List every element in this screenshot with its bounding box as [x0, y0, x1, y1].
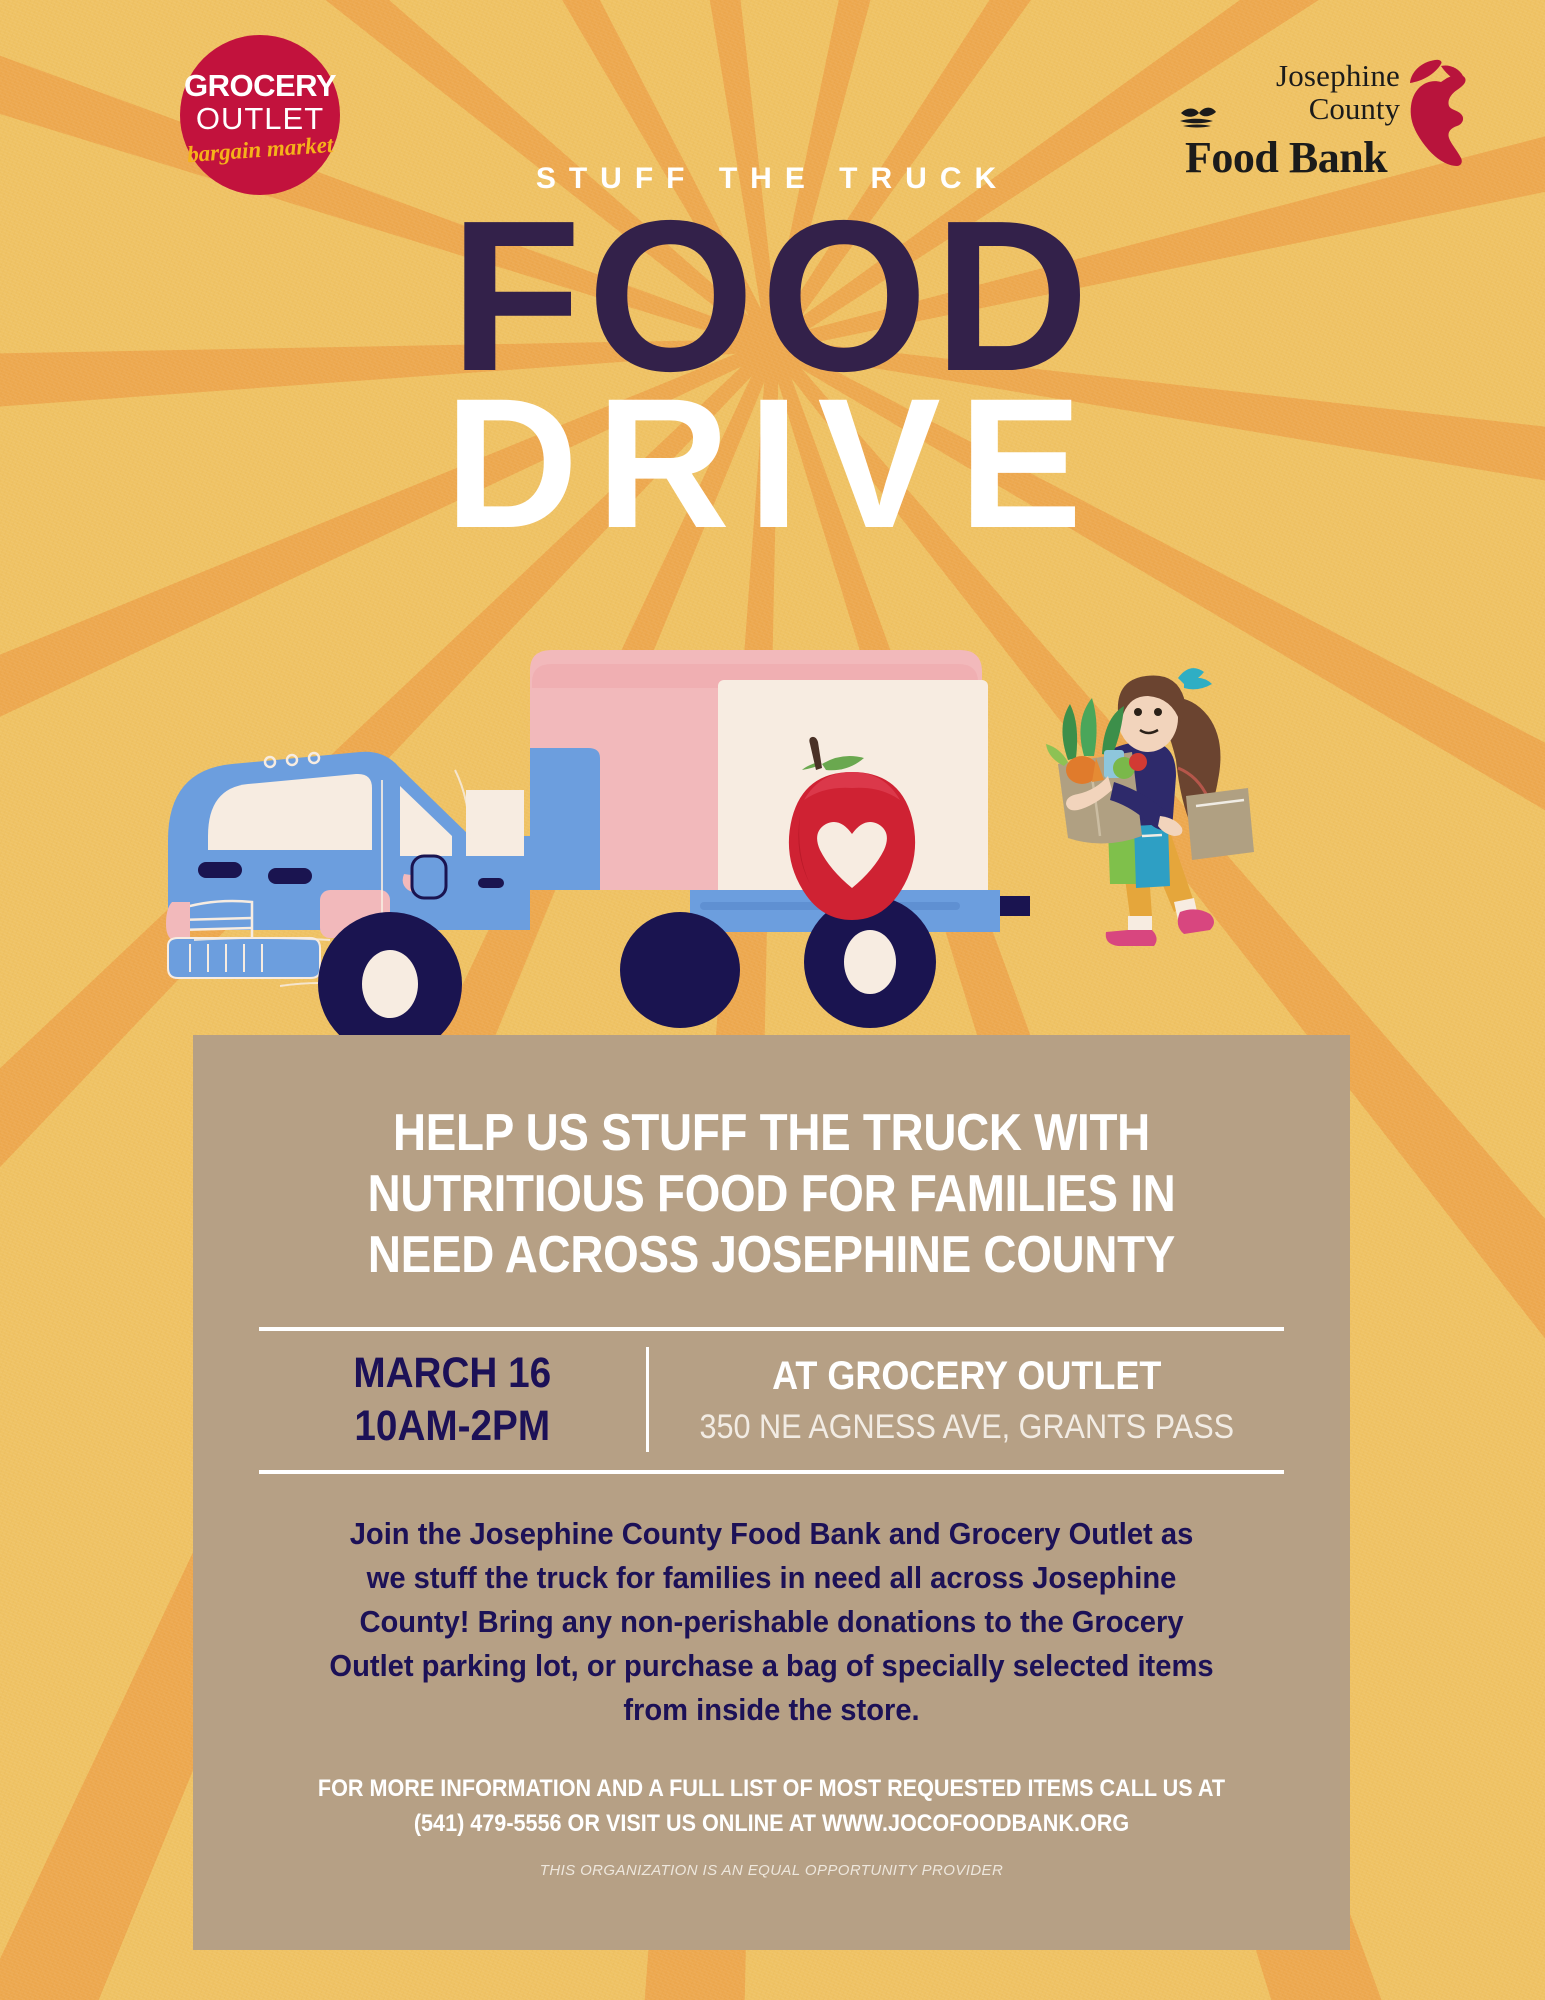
equal-opportunity-note: THIS ORGANIZATION IS AN EQUAL OPPORTUNIT… [263, 1862, 1280, 1879]
wheat-leaf-icon [1177, 104, 1219, 130]
truck-and-shopper-illustration [0, 640, 1545, 1060]
illustration-area [0, 640, 1545, 1060]
headline-drive: DRIVE [0, 372, 1545, 557]
event-location-title: AT GROCERY OUTLET [680, 1351, 1252, 1401]
panel-body-copy: Join the Josephine County Food Bank and … [329, 1512, 1214, 1732]
event-date: MARCH 16 [278, 1347, 626, 1399]
panel-headline: HELP US STUFF THE TRUCK WITH NUTRITIOUS … [324, 1103, 1219, 1285]
shopper-illustration [1046, 668, 1254, 946]
grocery-outlet-logo-line2: OUTLET [196, 103, 324, 134]
event-date-block: MARCH 16 10AM-2PM [259, 1347, 649, 1452]
panel-footer-contact: FOR MORE INFORMATION AND A FULL LIST OF … [314, 1772, 1229, 1842]
content-panel: HELP US STUFF THE TRUCK WITH NUTRITIOUS … [193, 1035, 1350, 1950]
event-location-block: AT GROCERY OUTLET 350 NE AGNESS AVE, GRA… [649, 1347, 1285, 1452]
poster-root: GROCERY OUTLET bargain market Josephine … [0, 0, 1545, 2000]
footer-line-2: (541) 479-5556 OR VISIT US ONLINE AT WWW… [314, 1807, 1229, 1842]
event-location-address: 350 NE AGNESS AVE, GRANTS PASS [680, 1405, 1252, 1449]
event-info-row: MARCH 16 10AM-2PM AT GROCERY OUTLET 350 … [259, 1327, 1284, 1474]
grocery-outlet-logo-tagline: bargain market [186, 132, 334, 165]
food-bank-line-josephine: Josephine [1185, 60, 1400, 93]
footer-line-1: FOR MORE INFORMATION AND A FULL LIST OF … [314, 1772, 1229, 1807]
event-time: 10AM-2PM [278, 1400, 626, 1452]
grocery-outlet-logo-line1: GROCERY [184, 70, 336, 101]
